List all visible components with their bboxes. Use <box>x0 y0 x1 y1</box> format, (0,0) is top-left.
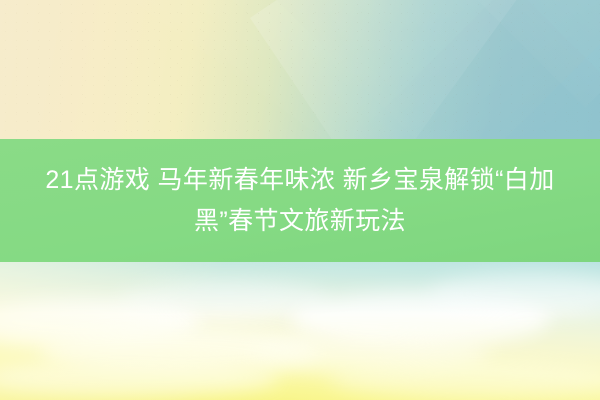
top-decorative-panel <box>0 0 600 139</box>
sky-left-tint-overlay <box>0 262 300 400</box>
article-title-banner: 21点游戏 马年新春年味浓 新乡宝泉解锁“白加黑”春节文旅新玩法 <box>0 0 600 400</box>
bottom-sky-panel <box>0 262 600 400</box>
headline-band: 21点游戏 马年新春年味浓 新乡宝泉解锁“白加黑”春节文旅新玩法 <box>0 139 600 262</box>
texture-fade-overlay <box>0 0 600 139</box>
banner-headline: 21点游戏 马年新春年味浓 新乡宝泉解锁“白加黑”春节文旅新玩法 <box>12 160 588 242</box>
